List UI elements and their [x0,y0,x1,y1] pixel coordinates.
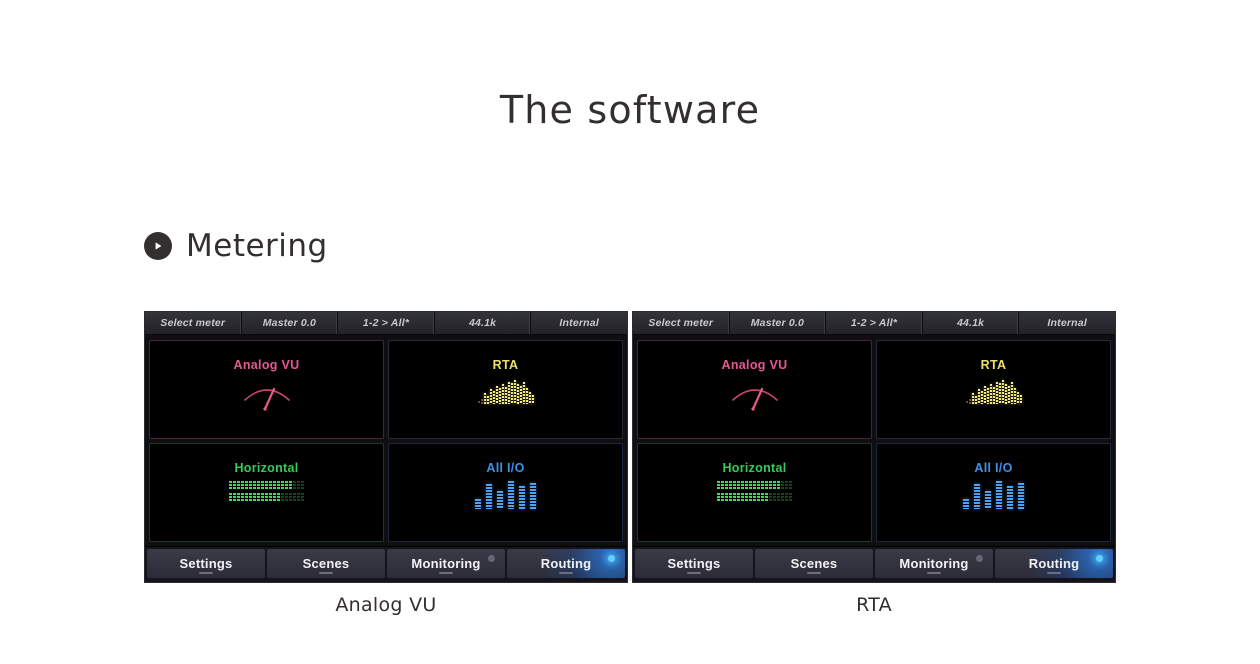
rta-bar [1002,380,1004,404]
io-meter-bar [508,481,514,509]
status-routing-path[interactable]: 1-2 > All* [338,312,435,334]
bottom-nav-bar: Settings Scenes Monitoring Routing [633,546,1115,582]
horizontal-meter-segment [281,481,284,490]
meter-tile-label: Analog VU [234,358,300,372]
horizontal-meter-row [229,493,304,502]
meter-tile-rta[interactable]: RTA [876,340,1111,439]
status-master-level[interactable]: Master 0.0 [242,312,339,334]
horizontal-meter-segment [245,481,248,490]
io-meter-bar [497,491,503,509]
horizontal-meter-segment [253,481,256,490]
horizontal-meter-segment [285,481,288,490]
nav-button-label: Routing [1029,556,1080,571]
horizontal-level-bars [229,481,304,502]
meter-grid: Analog VU RTA Horizontal All I/O [145,335,627,546]
page-title: The software [0,88,1260,132]
meter-tile-all-io[interactable]: All I/O [876,443,1111,542]
device-screenshot-left: Select meter Master 0.0 1-2 > All* 44.1k… [144,311,628,583]
nav-button-label: Monitoring [411,556,480,571]
horizontal-meter-segment [745,493,748,502]
horizontal-meter-segment [233,481,236,490]
status-clock-source[interactable]: Internal [531,312,627,334]
horizontal-meter-segment [753,481,756,490]
meter-tile-label: All I/O [974,461,1012,475]
horizontal-meter-segment [749,493,752,502]
rta-bar [969,399,971,404]
horizontal-meter-segment [733,481,736,490]
horizontal-meter-segment [729,481,732,490]
device-caption-right: RTA [632,594,1116,616]
meter-tile-label: Horizontal [722,461,786,475]
horizontal-meter-segment [749,481,752,490]
horizontal-meter-segment [757,493,760,502]
meter-tile-rta[interactable]: RTA [388,340,623,439]
rta-bar [984,386,986,404]
rta-bar [996,382,998,404]
horizontal-meter-segment [297,493,300,502]
horizontal-meter-segment [761,493,764,502]
horizontal-meter-segment [753,493,756,502]
rta-bar [508,382,510,404]
horizontal-meter-segment [761,481,764,490]
horizontal-meter-segment [237,481,240,490]
rta-bar [532,395,534,404]
horizontal-meter-segment [781,493,784,502]
meter-grid: Analog VU RTA Horizontal All I/O [633,335,1115,546]
status-sample-rate[interactable]: 44.1k [435,312,532,334]
meter-tile-label: Analog VU [722,358,788,372]
io-meter-bar [963,499,969,509]
horizontal-meter-segment [277,493,280,502]
rta-bar [487,396,489,404]
horizontal-meter-row [717,481,792,490]
rta-bar [505,387,507,404]
horizontal-meter-segment [737,493,740,502]
rta-bar [490,389,492,404]
horizontal-meter-segment [729,493,732,502]
rta-bar [978,389,980,404]
io-meter-bar [530,483,536,509]
horizontal-meter-segment [737,481,740,490]
io-meter-bar [475,499,481,509]
io-meter-bar [1007,486,1013,509]
horizontal-meter-segment [249,481,252,490]
rta-bar [1005,384,1007,404]
horizontal-meter-segment [789,481,792,490]
status-sample-rate[interactable]: 44.1k [923,312,1020,334]
status-indicator-dot [976,555,983,562]
nav-button-label: Settings [180,556,233,571]
meter-tile-all-io[interactable]: All I/O [388,443,623,542]
io-meter-bar [985,491,991,509]
rta-bar [526,388,528,404]
horizontal-meter-segment [265,493,268,502]
horizontal-meter-segment [281,493,284,502]
rta-bar [981,391,983,404]
horizontal-meter-segment [741,493,744,502]
nav-button-label: Monitoring [899,556,968,571]
horizontal-meter-segment [249,493,252,502]
horizontal-meter-segment [285,493,288,502]
horizontal-meter-segment [717,493,720,502]
meter-tile-analog-vu[interactable]: Analog VU [637,340,872,439]
nav-button-label: Routing [541,556,592,571]
meter-tile-analog-vu[interactable]: Analog VU [149,340,384,439]
nav-button-settings[interactable]: Settings [147,549,265,578]
horizontal-meter-segment [273,493,276,502]
rta-bar [484,393,486,404]
horizontal-meter-segment [233,493,236,502]
status-bar: Select meter Master 0.0 1-2 > All* 44.1k… [633,312,1115,335]
rta-bar [523,382,525,404]
status-master-level[interactable]: Master 0.0 [730,312,827,334]
horizontal-meter-segment [277,481,280,490]
horizontal-meter-segment [725,493,728,502]
horizontal-meter-segment [293,481,296,490]
horizontal-meter-segment [257,481,260,490]
horizontal-meter-segment [769,493,772,502]
rta-bar [481,399,483,404]
horizontal-meter-segment [241,493,244,502]
bullet-heading: Metering [144,228,328,264]
rta-bar [496,386,498,404]
rta-bar [520,386,522,404]
horizontal-meter-segment [289,493,292,502]
horizontal-meter-segment [773,493,776,502]
play-circle-icon [144,232,172,260]
horizontal-meter-segment [229,481,232,490]
rta-bar [529,392,531,404]
nav-button-label: Scenes [791,556,838,571]
horizontal-meter-segment [765,493,768,502]
rta-bar [502,384,504,404]
horizontal-meter-segment [273,481,276,490]
vu-needle-icon [725,378,785,412]
io-meter-bar [486,484,492,509]
rta-bar [1011,382,1013,404]
rta-bar [966,401,968,404]
horizontal-meter-segment [777,493,780,502]
rta-bar [493,391,495,404]
meter-tile-label: Horizontal [234,461,298,475]
all-io-level-bars [963,481,1024,509]
horizontal-meter-segment [301,493,304,502]
horizontal-meter-segment [741,481,744,490]
bottom-nav-bar: Settings Scenes Monitoring Routing [145,546,627,582]
meter-tile-label: All I/O [486,461,524,475]
rta-bar [990,384,992,404]
horizontal-meter-segment [245,493,248,502]
status-select-meter[interactable]: Select meter [633,312,730,334]
horizontal-meter-segment [717,481,720,490]
horizontal-meter-segment [257,493,260,502]
status-bar: Select meter Master 0.0 1-2 > All* 44.1k… [145,312,627,335]
nav-button-label: Scenes [303,556,350,571]
meter-tile-horizontal[interactable]: Horizontal [149,443,384,542]
status-routing-path[interactable]: 1-2 > All* [826,312,923,334]
status-indicator-dot-active [608,555,615,562]
horizontal-meter-segment [261,481,264,490]
horizontal-meter-segment [237,493,240,502]
rta-bar [514,380,516,404]
horizontal-meter-segment [745,481,748,490]
nav-button-routing[interactable]: Routing [995,549,1113,578]
io-meter-bar [1018,483,1024,509]
horizontal-meter-segment [229,493,232,502]
rta-bar [1014,388,1016,404]
vu-needle-icon [237,378,297,412]
all-io-level-bars [475,481,536,509]
horizontal-meter-segment [733,493,736,502]
horizontal-meter-segment [297,481,300,490]
horizontal-meter-row [717,493,792,502]
horizontal-level-bars [717,481,792,502]
status-indicator-dot [488,555,495,562]
nav-button-routing[interactable]: Routing [507,549,625,578]
horizontal-meter-segment [241,481,244,490]
meter-tile-label: RTA [981,358,1007,372]
horizontal-meter-segment [269,493,272,502]
horizontal-meter-segment [785,493,788,502]
horizontal-meter-segment [785,481,788,490]
horizontal-meter-segment [777,481,780,490]
horizontal-meter-segment [289,481,292,490]
horizontal-meter-segment [725,481,728,490]
io-meter-bar [974,484,980,509]
rta-bar [972,393,974,404]
rta-bar [987,388,989,404]
status-indicator-dot-active [1096,555,1103,562]
horizontal-meter-segment [301,481,304,490]
rta-bar [1008,386,1010,404]
status-select-meter[interactable]: Select meter [145,312,242,334]
nav-button-scenes[interactable]: Scenes [267,549,385,578]
meter-tile-horizontal[interactable]: Horizontal [637,443,872,542]
horizontal-meter-segment [261,493,264,502]
rta-bar [517,384,519,404]
rta-bar [1020,395,1022,404]
horizontal-meter-row [229,481,304,490]
nav-button-settings[interactable]: Settings [635,549,753,578]
rta-bar [993,387,995,404]
horizontal-meter-segment [773,481,776,490]
rta-bar [478,401,480,404]
horizontal-meter-segment [269,481,272,490]
nav-button-monitoring[interactable]: Monitoring [387,549,505,578]
horizontal-meter-segment [253,493,256,502]
horizontal-meter-segment [757,481,760,490]
horizontal-meter-segment [265,481,268,490]
rta-bar [499,388,501,404]
horizontal-meter-segment [765,481,768,490]
io-meter-bar [996,481,1002,509]
bullet-heading-label: Metering [186,228,328,264]
horizontal-meter-segment [789,493,792,502]
device-caption-left: Analog VU [144,594,628,616]
status-clock-source[interactable]: Internal [1019,312,1115,334]
io-meter-bar [519,486,525,509]
rta-bar [1017,392,1019,404]
nav-button-monitoring[interactable]: Monitoring [875,549,993,578]
nav-button-label: Settings [668,556,721,571]
rta-spectrum-bars [478,378,534,404]
nav-button-scenes[interactable]: Scenes [755,549,873,578]
horizontal-meter-segment [769,481,772,490]
meter-tile-label: RTA [493,358,519,372]
rta-spectrum-bars [966,378,1022,404]
horizontal-meter-segment [721,493,724,502]
rta-bar [511,383,513,404]
horizontal-meter-segment [721,481,724,490]
horizontal-meter-segment [781,481,784,490]
device-screenshot-right: Select meter Master 0.0 1-2 > All* 44.1k… [632,311,1116,583]
horizontal-meter-segment [293,493,296,502]
rta-bar [999,383,1001,404]
rta-bar [975,396,977,404]
